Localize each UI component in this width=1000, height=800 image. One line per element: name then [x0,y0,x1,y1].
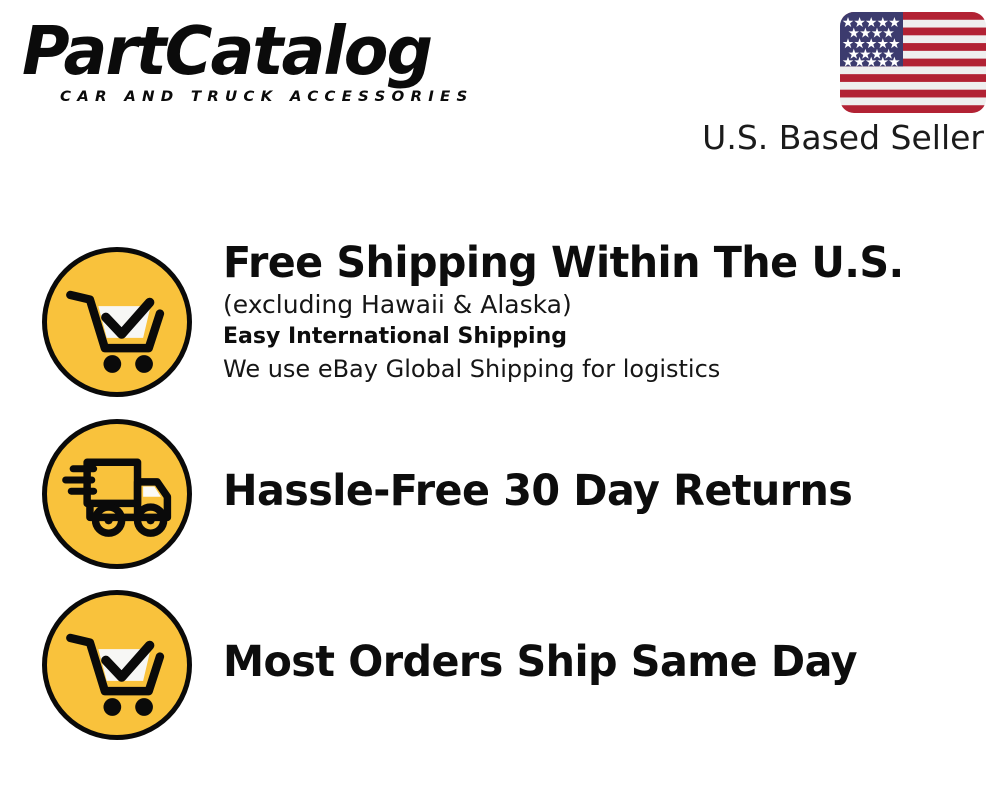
benefit-title: Most Orders Ship Same Day [223,637,953,687]
shopping-cart-check-icon [42,590,192,740]
delivery-truck-icon [42,419,192,569]
benefit-subtitle: (excluding Hawaii & Alaska) [223,288,983,321]
benefit-title: Free Shipping Within The U.S. [223,238,953,288]
international-shipping-heading: Easy International Shipping [223,321,983,353]
benefit-text-returns: Hassle-Free 30 Day Returns [223,466,983,516]
brand-tagline: CAR AND TRUCK ACCESSORIES [60,88,473,105]
benefit-text-same-day: Most Orders Ship Same Day [223,637,983,687]
international-shipping-note: We use eBay Global Shipping for logistic… [223,353,983,385]
us-flag-icon [840,12,986,113]
benefit-text-free-shipping: Free Shipping Within The U.S. (excluding… [223,238,983,385]
us-based-seller-label: U.S. Based Seller [702,118,984,158]
page-header: PartCatalog CAR AND TRUCK ACCESSORIES [0,0,1000,175]
brand-wordmark: PartCatalog [22,16,478,86]
shopping-cart-check-icon [42,247,192,397]
benefit-title: Hassle-Free 30 Day Returns [223,466,953,516]
